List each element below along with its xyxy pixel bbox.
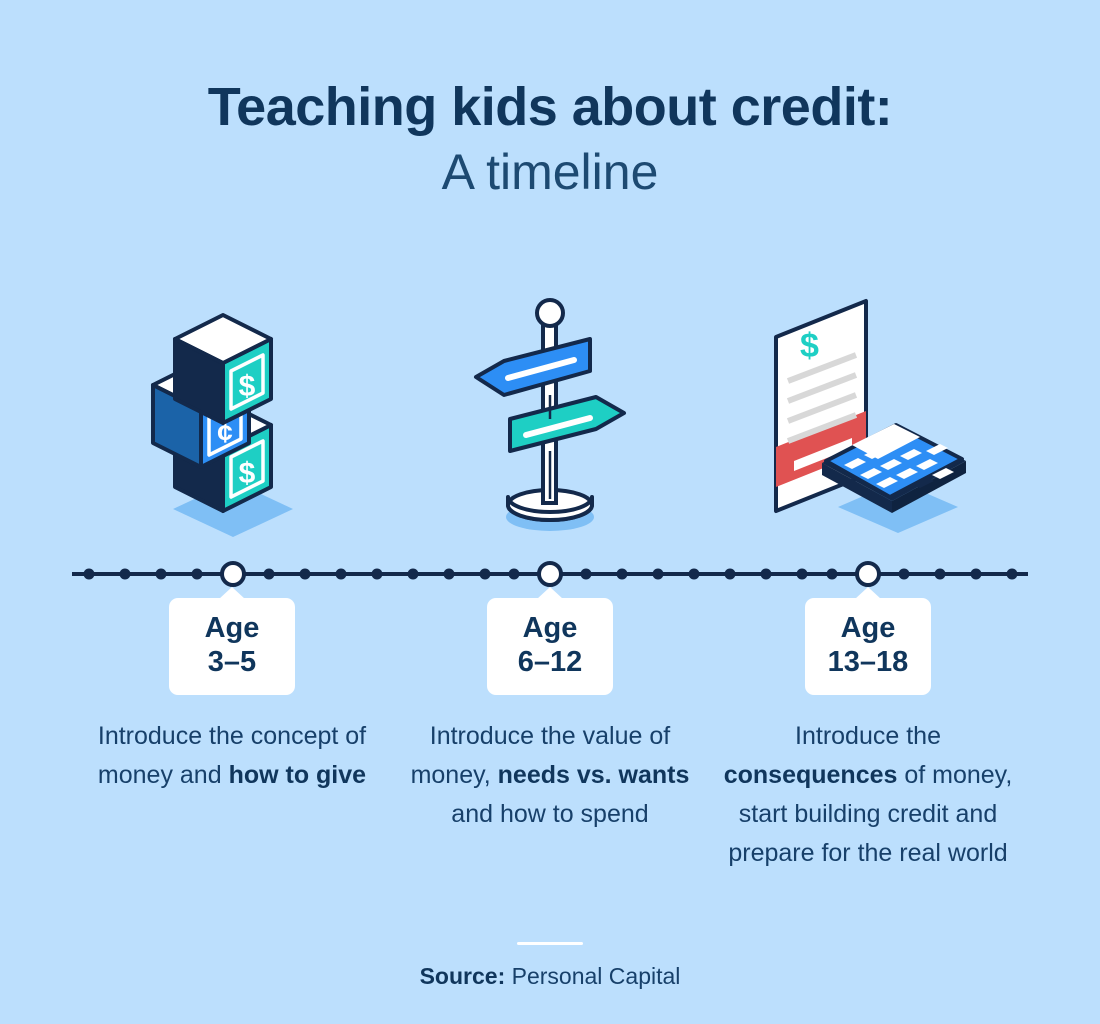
milestone-age-13-18: Age 13–18 Introduce the consequences of … — [708, 598, 1028, 873]
svg-text:$: $ — [239, 457, 256, 490]
timeline-marker-age-3-5 — [222, 563, 244, 585]
age-badge-label: Age — [509, 612, 591, 646]
source-value: Personal Capital — [512, 963, 681, 989]
age-badge-6-12: Age 6–12 — [487, 598, 613, 695]
svg-text:$: $ — [239, 370, 256, 403]
age-badge-range: 13–18 — [827, 646, 909, 680]
title-block: Teaching kids about credit: A timeline — [0, 78, 1100, 204]
milestones-row: Age 3–5 Introduce the concept of money a… — [0, 598, 1100, 928]
milestone-caption: Introduce the concept of money and how t… — [72, 717, 392, 795]
age-badge-label: Age — [191, 612, 273, 646]
page-title: Teaching kids about credit: — [0, 78, 1100, 137]
signpost-icon — [430, 285, 670, 545]
source-label: Source: — [420, 963, 506, 989]
timeline-marker-age-13-18 — [857, 563, 879, 585]
timeline-axis — [0, 560, 1100, 588]
stacked-money-blocks-icon: $ ¢ $ — [113, 285, 353, 545]
milestone-caption: Introduce the consequences of money, sta… — [708, 717, 1028, 873]
age-badge-13-18: Age 13–18 — [805, 598, 931, 695]
age-badge-range: 6–12 — [509, 646, 591, 680]
illustrations-row: $ ¢ $ — [0, 285, 1100, 545]
milestone-age-3-5: Age 3–5 Introduce the concept of money a… — [72, 598, 392, 795]
bill-and-calculator-icon: $ — [748, 285, 988, 545]
milestone-age-6-12: Age 6–12 Introduce the value of money, n… — [390, 598, 710, 834]
age-badge-3-5: Age 3–5 — [169, 598, 295, 695]
age-badge-label: Age — [827, 612, 909, 646]
timeline-marker-age-6-12 — [539, 563, 561, 585]
svg-text:$: $ — [800, 327, 819, 365]
age-badge-range: 3–5 — [191, 646, 273, 680]
footer-divider — [517, 942, 583, 945]
source-text: Source: Personal Capital — [0, 963, 1100, 990]
source-footer: Source: Personal Capital — [0, 942, 1100, 990]
page-subtitle: A timeline — [0, 141, 1100, 204]
milestone-caption: Introduce the value of money, needs vs. … — [390, 717, 710, 834]
infographic-canvas: Teaching kids about credit: A timeline $ — [0, 0, 1100, 1024]
